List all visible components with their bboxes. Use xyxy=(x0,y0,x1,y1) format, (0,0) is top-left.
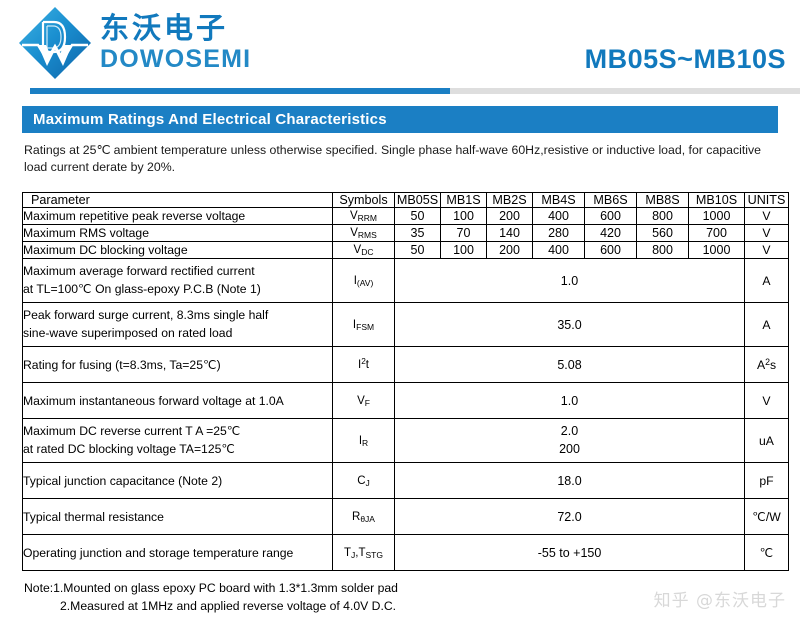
row-value: 280 xyxy=(533,225,585,242)
table-row: Typical junction capacitance (Note 2) CJ… xyxy=(23,463,789,499)
table-row: Maximum DC reverse current T A =25℃ at r… xyxy=(23,419,789,463)
electrical-characteristics-table: Parameter Symbols MB05S MB1S MB2S MB4S M… xyxy=(22,192,789,571)
symbol-base: T xyxy=(344,547,351,559)
brand-logo-block: 东沃电子 DOWOSEMI xyxy=(16,4,251,82)
symbol-subscript: J xyxy=(351,550,355,560)
row-units: A xyxy=(745,303,789,347)
row-symbol: IFSM xyxy=(333,303,395,347)
row-units-base: A xyxy=(757,358,765,372)
symbol-tail: t xyxy=(366,359,369,371)
source-watermark: 知乎 @东沃电子 xyxy=(654,586,786,611)
row-value: 560 xyxy=(637,225,689,242)
header-divider-accent xyxy=(30,88,450,94)
row-value: 140 xyxy=(487,225,533,242)
row-symbol: CJ xyxy=(333,463,395,499)
column-header-mb8s: MB8S xyxy=(637,193,689,208)
row-parameter: Operating junction and storage temperatu… xyxy=(23,535,333,571)
row-parameter: Maximum DC blocking voltage xyxy=(23,242,333,259)
row-merged-value: 1.0 xyxy=(395,383,745,419)
row-parameter: Maximum instantaneous forward voltage at… xyxy=(23,383,333,419)
brand-wordmark: 东沃电子 DOWOSEMI xyxy=(100,14,251,72)
row-merged-value: 1.0 xyxy=(395,259,745,303)
row-value: 600 xyxy=(585,208,637,225)
symbol-base: C xyxy=(357,475,365,487)
header-divider xyxy=(30,88,800,94)
table-row: Maximum instantaneous forward voltage at… xyxy=(23,383,789,419)
row-merged-value: 35.0 xyxy=(395,303,745,347)
note-line-1: Note:1.Mounted on glass epoxy PC board w… xyxy=(24,581,398,595)
column-header-mb05s: MB05S xyxy=(395,193,441,208)
symbol-subscript-2: STG xyxy=(366,550,383,560)
row-units: V xyxy=(745,208,789,225)
column-header-mb10s: MB10S xyxy=(689,193,745,208)
symbol-subscript: F xyxy=(365,398,370,408)
row-units-superscript: 2 xyxy=(765,357,770,367)
table-row: Operating junction and storage temperatu… xyxy=(23,535,789,571)
row-value: 50 xyxy=(395,242,441,259)
row-value: 70 xyxy=(441,225,487,242)
row-merged-value: 18.0 xyxy=(395,463,745,499)
symbol-tail: ,T xyxy=(355,547,365,559)
note-line-2: 2.Measured at 1MHz and applied reverse v… xyxy=(24,597,398,615)
row-value: 1000 xyxy=(689,242,745,259)
column-header-mb1s: MB1S xyxy=(441,193,487,208)
symbol-subscript: RRM xyxy=(358,213,377,223)
symbol-base: V xyxy=(350,210,358,222)
brand-name-cn: 东沃电子 xyxy=(100,14,251,43)
symbol-subscript: (AV) xyxy=(357,278,373,288)
row-value: 200 xyxy=(487,208,533,225)
row-units: A2s xyxy=(745,347,789,383)
part-number-title: MB05S~MB10S xyxy=(585,44,786,75)
column-header-mb2s: MB2S xyxy=(487,193,533,208)
row-units: ℃/W xyxy=(745,499,789,535)
symbol-subscript: θJA xyxy=(360,514,375,524)
row-units: V xyxy=(745,383,789,419)
row-value: 600 xyxy=(585,242,637,259)
row-value: 200 xyxy=(487,242,533,259)
symbol-base: V xyxy=(350,227,358,239)
table-row: Maximum average forward rectified curren… xyxy=(23,259,789,303)
row-merged-value: 2.0 200 xyxy=(395,419,745,463)
symbol-subscript: R xyxy=(362,438,368,448)
row-merged-value: -55 to +150 xyxy=(395,535,745,571)
row-parameter: Maximum repetitive peak reverse voltage xyxy=(23,208,333,225)
row-merged-value: 5.08 xyxy=(395,347,745,383)
symbol-subscript: DC xyxy=(361,247,373,257)
table-row: Maximum DC blocking voltage VDC 50 100 2… xyxy=(23,242,789,259)
row-merged-value: 72.0 xyxy=(395,499,745,535)
row-value: 400 xyxy=(533,208,585,225)
symbol-subscript: FSM xyxy=(356,322,374,332)
brand-name-en: DOWOSEMI xyxy=(100,47,251,72)
row-parameter-line2: at TL=100℃ On glass-epoxy P.C.B (Note 1) xyxy=(23,282,261,296)
row-value: 100 xyxy=(441,208,487,225)
row-symbol: I(AV) xyxy=(333,259,395,303)
row-value: 800 xyxy=(637,242,689,259)
symbol-subscript: J xyxy=(366,478,370,488)
dowosemi-diamond-logo-icon xyxy=(16,4,94,82)
row-parameter-line1: Peak forward surge current, 8.3ms single… xyxy=(23,308,268,322)
row-symbol: IR xyxy=(333,419,395,463)
table-row: Peak forward surge current, 8.3ms single… xyxy=(23,303,789,347)
column-header-parameter: Parameter xyxy=(23,193,333,208)
row-value: 420 xyxy=(585,225,637,242)
row-value: 400 xyxy=(533,242,585,259)
table-row: Maximum repetitive peak reverse voltage … xyxy=(23,208,789,225)
symbol-subscript: RMS xyxy=(358,230,377,240)
section-title: Maximum Ratings And Electrical Character… xyxy=(22,111,387,128)
row-symbol: TJ,TSTG xyxy=(333,535,395,571)
row-symbol: VRMS xyxy=(333,225,395,242)
table-row: Typical thermal resistance RθJA 72.0 ℃/W xyxy=(23,499,789,535)
row-parameter: Typical junction capacitance (Note 2) xyxy=(23,463,333,499)
row-symbol: VDC xyxy=(333,242,395,259)
row-symbol: I2t xyxy=(333,347,395,383)
row-parameter: Rating for fusing (t=8.3ms, Ta=25℃) xyxy=(23,347,333,383)
row-units: V xyxy=(745,225,789,242)
row-parameter: Maximum DC reverse current T A =25℃ at r… xyxy=(23,419,333,463)
row-units: uA xyxy=(745,419,789,463)
symbol-base: V xyxy=(357,395,365,407)
row-symbol: VF xyxy=(333,383,395,419)
row-parameter: Peak forward surge current, 8.3ms single… xyxy=(23,303,333,347)
row-symbol: VRRM xyxy=(333,208,395,225)
table-row: Maximum RMS voltage VRMS 35 70 140 280 4… xyxy=(23,225,789,242)
table-header-row: Parameter Symbols MB05S MB1S MB2S MB4S M… xyxy=(23,193,789,208)
column-header-mb4s: MB4S xyxy=(533,193,585,208)
row-value: 800 xyxy=(637,208,689,225)
column-header-symbols: Symbols xyxy=(333,193,395,208)
row-value: 700 xyxy=(689,225,745,242)
page-header: 东沃电子 DOWOSEMI MB05S~MB10S xyxy=(0,0,800,86)
row-merged-value-line1: 2.0 xyxy=(561,424,578,438)
symbol-superscript: 2 xyxy=(361,357,366,366)
row-parameter-line1: Maximum DC reverse current T A =25℃ xyxy=(23,424,240,438)
row-units: A xyxy=(745,259,789,303)
table-row: Rating for fusing (t=8.3ms, Ta=25℃) I2t … xyxy=(23,347,789,383)
row-merged-value-line2: 200 xyxy=(559,442,580,456)
row-parameter: Maximum RMS voltage xyxy=(23,225,333,242)
column-header-mb6s: MB6S xyxy=(585,193,637,208)
row-parameter: Typical thermal resistance xyxy=(23,499,333,535)
row-parameter-line2: sine-wave superimposed on rated load xyxy=(23,326,232,340)
row-parameter-line1: Maximum average forward rectified curren… xyxy=(23,264,255,278)
row-parameter: Maximum average forward rectified curren… xyxy=(23,259,333,303)
section-header-bar: Maximum Ratings And Electrical Character… xyxy=(22,106,778,133)
column-header-units: UNITS xyxy=(745,193,789,208)
row-parameter-line2: at rated DC blocking voltage TA=125℃ xyxy=(23,442,235,456)
row-value: 1000 xyxy=(689,208,745,225)
row-units-tail: s xyxy=(770,358,776,372)
row-value: 35 xyxy=(395,225,441,242)
row-value: 100 xyxy=(441,242,487,259)
row-units: V xyxy=(745,242,789,259)
row-units: ℃ xyxy=(745,535,789,571)
footer-notes: Note:1.Mounted on glass epoxy PC board w… xyxy=(24,579,398,616)
intro-paragraph: Ratings at 25℃ ambient temperature unles… xyxy=(24,142,780,176)
row-value: 50 xyxy=(395,208,441,225)
row-units: pF xyxy=(745,463,789,499)
row-symbol: RθJA xyxy=(333,499,395,535)
